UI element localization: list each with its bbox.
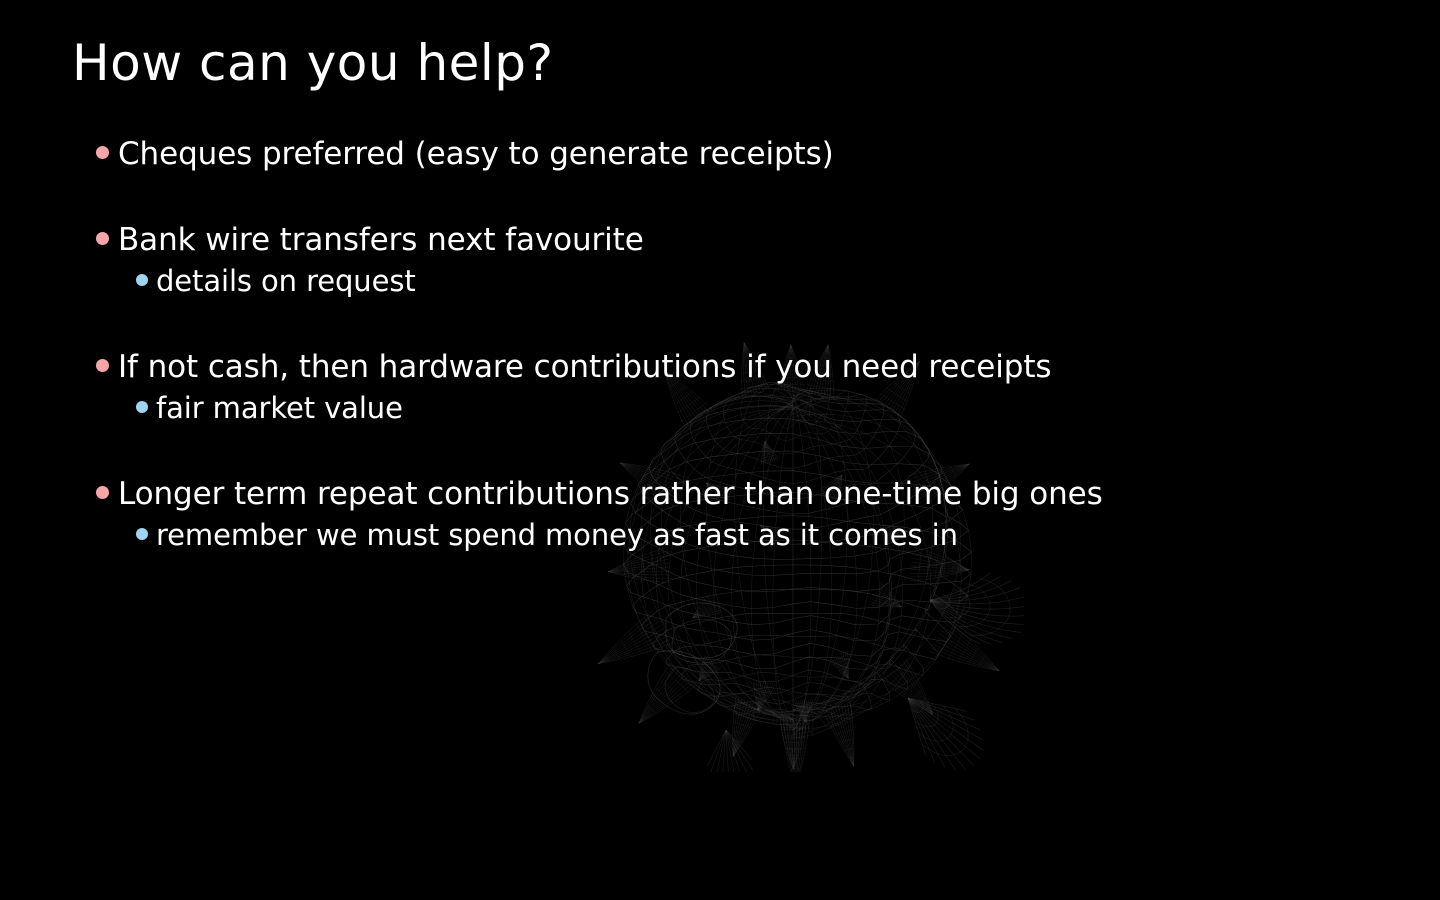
page-title: How can you help? <box>72 34 554 92</box>
sub-bullet-dot-icon <box>136 528 148 540</box>
bullet-dot-icon <box>96 232 109 245</box>
list-item: If not cash, then hardware contributions… <box>96 349 1416 385</box>
bullet-block: Longer term repeat contributions rather … <box>96 476 1416 552</box>
bullet-block: Bank wire transfers next favourite detai… <box>96 222 1416 298</box>
bullet-list: Cheques preferred (easy to generate rece… <box>0 0 1440 900</box>
presentation-slide: How can you help? Cheques preferred (eas… <box>0 0 1440 900</box>
list-item: Bank wire transfers next favourite <box>96 222 1416 258</box>
list-item-label: Longer term repeat contributions rather … <box>118 476 1103 512</box>
bullet-dot-icon <box>96 359 109 372</box>
list-item-label: Bank wire transfers next favourite <box>118 222 644 258</box>
sub-list-item-label: fair market value <box>156 391 403 425</box>
list-item-label: If not cash, then hardware contributions… <box>118 349 1051 385</box>
bullet-block: Cheques preferred (easy to generate rece… <box>96 136 1416 172</box>
sub-list-item: remember we must spend money as fast as … <box>136 518 1416 552</box>
sub-list-item-label: details on request <box>156 264 416 298</box>
list-item-label: Cheques preferred (easy to generate rece… <box>118 136 834 172</box>
list-item: Longer term repeat contributions rather … <box>96 476 1416 512</box>
sub-list-item-label: remember we must spend money as fast as … <box>156 518 958 552</box>
bullet-dot-icon <box>96 486 109 499</box>
sub-list-item: details on request <box>136 264 1416 298</box>
sub-list-item: fair market value <box>136 391 1416 425</box>
bullet-dot-icon <box>96 146 109 159</box>
list-item: Cheques preferred (easy to generate rece… <box>96 136 1416 172</box>
sub-bullet-dot-icon <box>136 274 148 286</box>
sub-bullet-dot-icon <box>136 401 148 413</box>
bullet-block: If not cash, then hardware contributions… <box>96 349 1416 425</box>
